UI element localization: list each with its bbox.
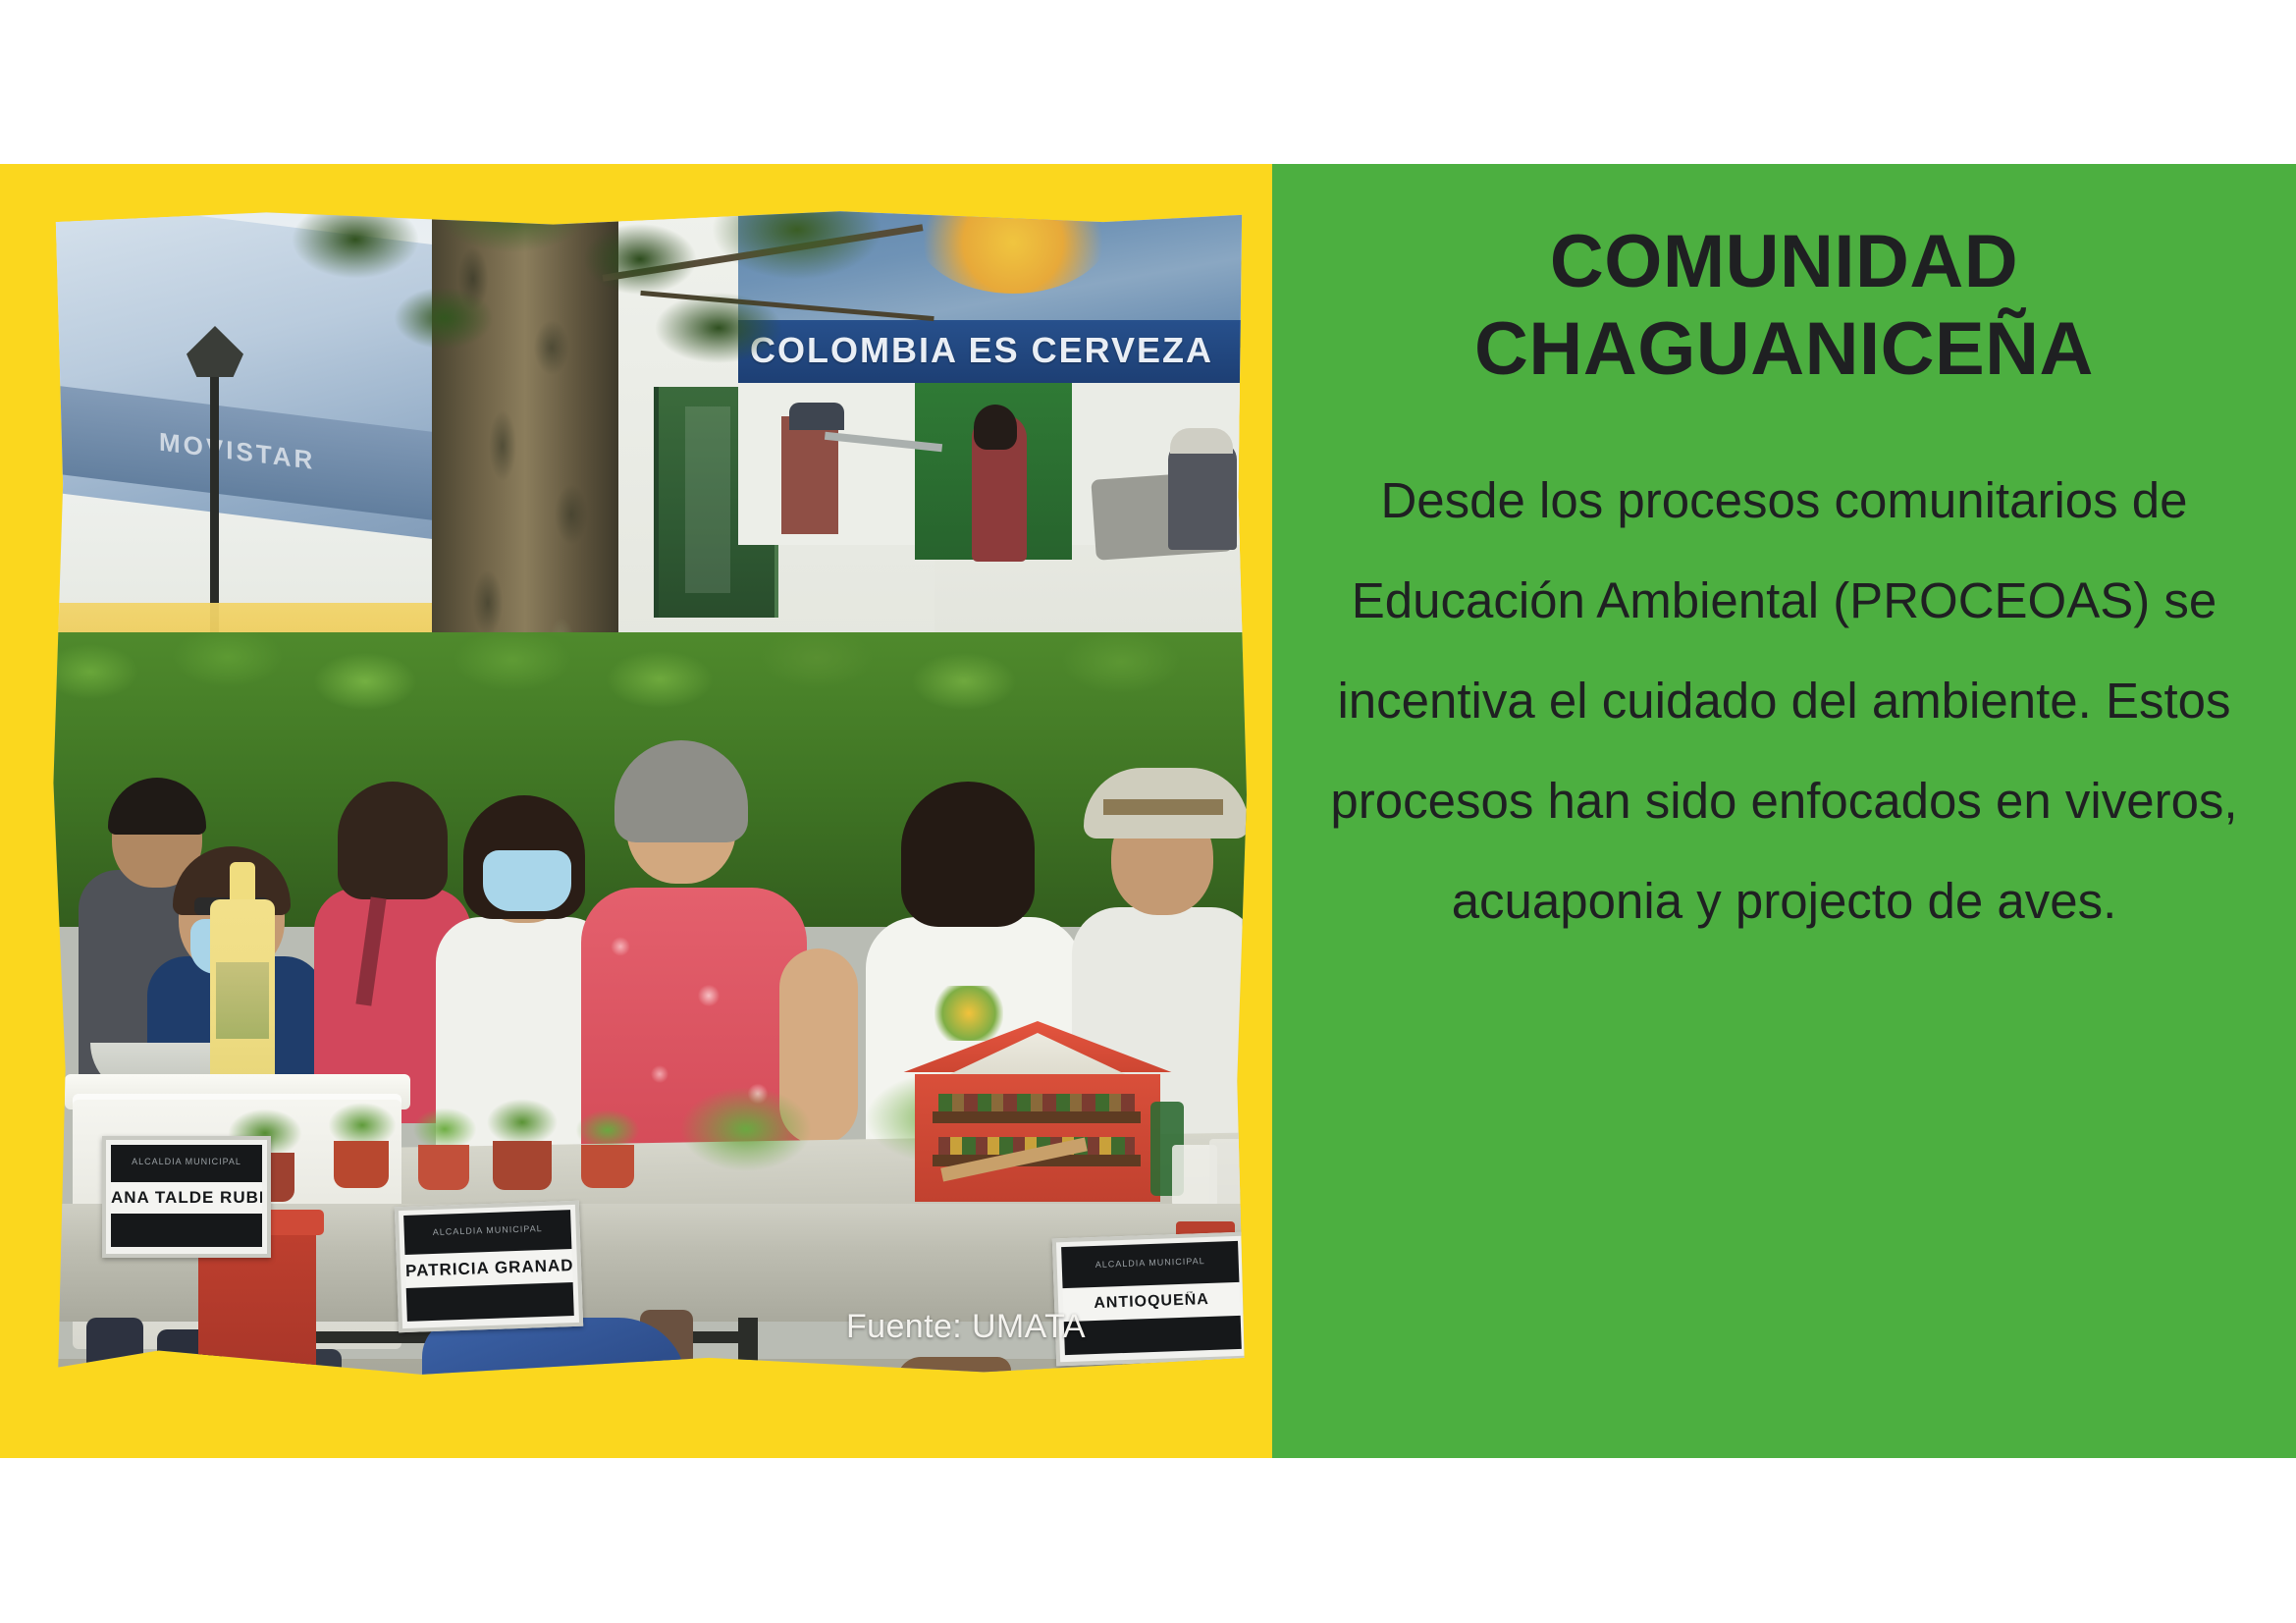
photo-plant-pot	[334, 1141, 389, 1188]
photo-vendor-cap	[789, 403, 844, 430]
photo-shirt-graphic	[934, 986, 1003, 1041]
name-plaque-a: ALCALDIA MUNICIPAL ANA TALDE RUBIO	[102, 1136, 271, 1258]
slide-canvas: MOVISTAR COLOMBIA ES CERVEZA	[0, 0, 2296, 1623]
photo-pavement-line	[601, 1359, 604, 1403]
photo-person-right-far	[1168, 442, 1237, 550]
yellow-photo-panel: MOVISTAR COLOMBIA ES CERVEZA	[0, 164, 1272, 1458]
photo-person-legs	[86, 1318, 143, 1403]
photo-model-house-shelf	[933, 1111, 1141, 1123]
photo-person-green-stall-hair	[974, 405, 1017, 450]
photo-blue-bag	[422, 1318, 687, 1403]
photo-plant-pot	[418, 1145, 469, 1190]
photo-plant-pot	[581, 1145, 634, 1188]
plaque-c-subtitle: ALCALDIA MUNICIPAL	[1061, 1241, 1239, 1271]
photo-plant-pot	[493, 1141, 552, 1190]
photo-face-mask	[483, 850, 571, 911]
photo-bottle-label	[216, 962, 269, 1039]
photo-shoe	[626, 1386, 721, 1403]
plaque-a-name: ANA TALDE RUBIO	[111, 1188, 262, 1208]
page-title: COMUNIDAD CHAGUANICEÑA	[1313, 219, 2255, 394]
photo-plant-large	[658, 1070, 834, 1188]
photo-source-caption: Fuente: UMATA	[846, 1308, 1086, 1346]
photo-pavement-line	[247, 1359, 250, 1403]
title-line-1: COMUNIDAD	[1550, 220, 2018, 303]
photo-person-white-tee-hair	[901, 782, 1035, 927]
photo-tree-foliage	[277, 210, 925, 406]
photo-hat-band	[1103, 799, 1223, 815]
photo-frame: MOVISTAR COLOMBIA ES CERVEZA	[51, 210, 1247, 1403]
title-line-2: CHAGUANICEÑA	[1474, 307, 2094, 391]
photo-person-pink-top-hair	[338, 782, 448, 899]
green-text-panel: COMUNIDAD CHAGUANICEÑA Desde los proceso…	[1272, 164, 2296, 1458]
photo-blue-bag	[495, 1379, 671, 1403]
photo-person-right-hat	[1170, 428, 1233, 454]
community-photo: MOVISTAR COLOMBIA ES CERVEZA	[51, 210, 1247, 1403]
photo-boot	[897, 1357, 1011, 1403]
plaque-c-name: ANTIOQUEÑA	[1094, 1291, 1209, 1313]
plaque-a-subtitle: ALCALDIA MUNICIPAL	[111, 1145, 262, 1166]
photo-cup	[1209, 1139, 1247, 1210]
name-plaque-b: ALCALDIA MUNICIPAL PATRICIA GRANADOS	[395, 1201, 583, 1332]
plaque-b-subtitle: ALCALDIA MUNICIPAL	[403, 1210, 571, 1238]
photo-model-house-contents	[938, 1094, 1135, 1111]
photo-door-shade	[685, 406, 730, 593]
plaque-b-name: PATRICIA GRANADOS	[405, 1256, 573, 1281]
body-paragraph: Desde los procesos comunitarios de Educa…	[1313, 451, 2255, 951]
